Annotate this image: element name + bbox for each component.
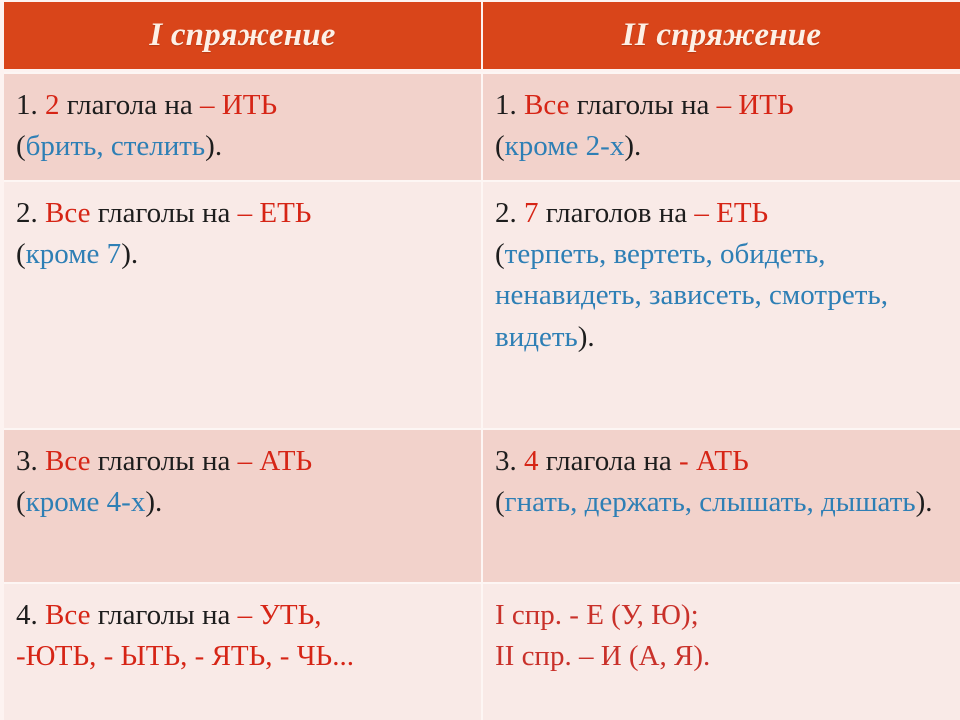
rule-number: 3. [495, 445, 517, 477]
rule-emphasis: 7 [524, 197, 539, 229]
rule-line-primary: 3. 4 глагола на - АТЬ [495, 441, 950, 482]
rule-middle: глагола на [60, 89, 201, 121]
rule-middle: глаголы на [569, 89, 716, 121]
rule-line-examples: (кроме 7). [16, 234, 471, 275]
paren-close: ). [121, 238, 138, 270]
rule-ending: ИТЬ [738, 89, 793, 121]
rule-middle: глаголов на [539, 197, 695, 229]
cell-row4-col1: 4. Все глаголы на – УТЬ, -ЮТЬ, - ЫТЬ, - … [4, 584, 483, 720]
rule-line-primary: 2. Все глаголы на – ЕТЬ [16, 193, 471, 234]
rule-emphasis: Все [45, 599, 90, 631]
rule-dash: – [238, 445, 260, 477]
rule-emphasis: Все [45, 445, 90, 477]
rule-dash: – [200, 89, 222, 121]
cell-row1-col1: 1. 2 глагола на – ИТЬ (брить, стелить). [4, 74, 483, 180]
rule-emphasis: 2 [45, 89, 60, 121]
cell-row4-col2: I спр. - Е (У, Ю); II спр. – И (А, Я). [483, 584, 960, 720]
example-verbs: кроме 2-х [505, 130, 625, 162]
cell-row1-col2: 1. Все глаголы на – ИТЬ (кроме 2-х). [483, 74, 960, 180]
table-row: 1. 2 глагола на – ИТЬ (брить, стелить). … [4, 72, 960, 180]
example-verbs: терпеть, вертеть, обидеть, ненавидеть, з… [495, 238, 888, 352]
cell-row3-col1: 3. Все глаголы на – АТЬ (кроме 4-х). [4, 430, 483, 582]
example-verbs: кроме 7 [26, 238, 122, 270]
rule-middle: глаголы на [90, 599, 237, 631]
rule-ending: УТЬ, [259, 599, 321, 631]
rule-emphasis: Все [45, 197, 90, 229]
rule-number: 2. [16, 197, 38, 229]
table-row: 3. Все глаголы на – АТЬ (кроме 4-х). 3. … [4, 428, 960, 582]
rule-line-primary: 1. Все глаголы на – ИТЬ [495, 85, 950, 126]
paren-close: ). [145, 486, 162, 518]
rule-number: 3. [16, 445, 38, 477]
rule-dash: – [694, 197, 716, 229]
rule-emphasis: Все [524, 89, 569, 121]
rule-number: 1. [495, 89, 517, 121]
table-header-row: I спряжение II спряжение [0, 0, 960, 72]
paren-open: ( [495, 486, 505, 518]
paren-close: ). [205, 130, 222, 162]
rule-line-primary: 2. 7 глаголов на – ЕТЬ [495, 193, 950, 234]
conjugation-2-vowels: II спр. – И (А, Я). [495, 636, 950, 677]
cell-row3-col2: 3. 4 глагола на - АТЬ (гнать, держать, с… [483, 430, 960, 582]
rule-dash: – [238, 197, 260, 229]
example-verbs: гнать, держать, слышать, дышать [505, 486, 916, 518]
rule-number: 2. [495, 197, 517, 229]
rule-ending: ЕТЬ [716, 197, 768, 229]
rule-ending: ЕТЬ [259, 197, 311, 229]
paren-open: ( [16, 130, 26, 162]
table-row: 4. Все глаголы на – УТЬ, -ЮТЬ, - ЫТЬ, - … [4, 582, 960, 720]
rule-dash: – [238, 599, 260, 631]
paren-open: ( [495, 130, 505, 162]
rule-line-examples: (брить, стелить). [16, 126, 471, 167]
rule-ending: АТЬ [696, 445, 749, 477]
rule-emphasis: 4 [524, 445, 539, 477]
cell-row2-col2: 2. 7 глаголов на – ЕТЬ (терпеть, вертеть… [483, 182, 960, 428]
cell-row2-col1: 2. Все глаголы на – ЕТЬ (кроме 7). [4, 182, 483, 428]
rule-line-examples: (гнать, держать, слышать, дышать). [495, 482, 950, 523]
rule-middle: глаголы на [90, 197, 237, 229]
rule-line-endings: -ЮТЬ, - ЫТЬ, - ЯТЬ, - ЧЬ... [16, 636, 471, 677]
example-verbs: кроме 4-х [26, 486, 146, 518]
rule-number: 4. [16, 599, 38, 631]
paren-open: ( [16, 238, 26, 270]
paren-open: ( [495, 238, 505, 270]
rule-dash: - [679, 445, 696, 477]
rule-dash: – [717, 89, 739, 121]
conjugation-table: I спряжение II спряжение 1. 2 глагола на… [0, 0, 960, 720]
rule-line-primary: 1. 2 глагола на – ИТЬ [16, 85, 471, 126]
rule-line-examples: (кроме 2-х). [495, 126, 950, 167]
paren-close: ). [578, 321, 595, 353]
rule-line-primary: 3. Все глаголы на – АТЬ [16, 441, 471, 482]
rule-line-examples: (терпеть, вертеть, обидеть, ненавидеть, … [495, 234, 950, 358]
rule-line-primary: 4. Все глаголы на – УТЬ, [16, 595, 471, 636]
rule-ending: ИТЬ [222, 89, 277, 121]
rule-middle: глаголы на [90, 445, 237, 477]
rule-line-examples: (кроме 4-х). [16, 482, 471, 523]
example-verbs: брить, стелить [26, 130, 205, 162]
rule-number: 1. [16, 89, 38, 121]
paren-close: ). [916, 486, 933, 518]
table-body: 1. 2 глагола на – ИТЬ (брить, стелить). … [0, 72, 960, 720]
paren-close: ). [624, 130, 641, 162]
rule-middle: глагола на [539, 445, 680, 477]
paren-open: ( [16, 486, 26, 518]
table-row: 2. Все глаголы на – ЕТЬ (кроме 7). 2. 7 … [4, 180, 960, 428]
header-cell-first-conjugation: I спряжение [4, 2, 481, 69]
rule-ending: АТЬ [259, 445, 312, 477]
header-cell-second-conjugation: II спряжение [483, 2, 960, 69]
conjugation-1-vowels: I спр. - Е (У, Ю); [495, 595, 950, 636]
